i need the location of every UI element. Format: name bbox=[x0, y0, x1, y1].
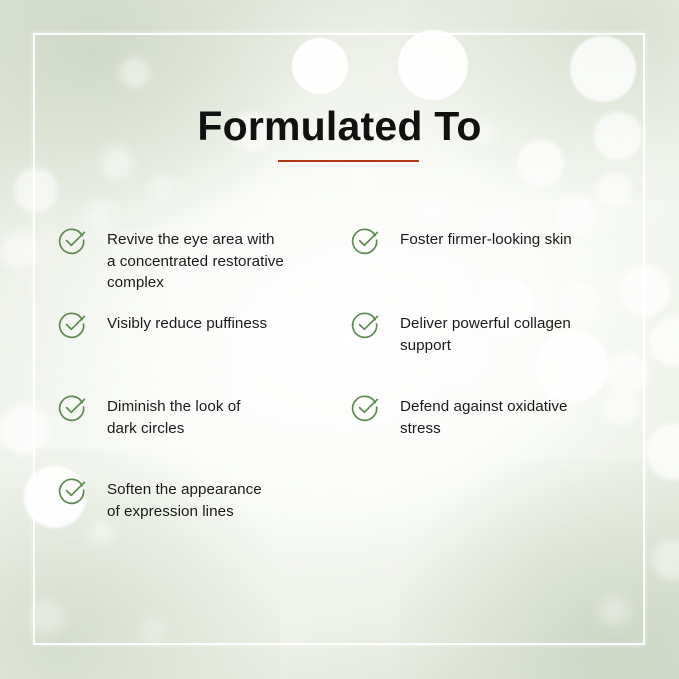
benefit-item: Deliver powerful collagen support bbox=[351, 313, 571, 356]
check-circle-icon bbox=[58, 393, 88, 423]
check-circle-icon bbox=[351, 393, 381, 423]
benefit-item-label: Soften the appearance of expression line… bbox=[107, 479, 262, 522]
check-circle-icon bbox=[58, 310, 88, 340]
benefit-columns: Revive the eye area with a concentrated … bbox=[0, 0, 679, 679]
benefit-item: Defend against oxidative stress bbox=[351, 396, 568, 439]
benefit-item-label: Visibly reduce puffiness bbox=[107, 313, 267, 335]
content-area: Formulated To Revive the eye area with a… bbox=[0, 0, 679, 679]
benefit-item: Visibly reduce puffiness bbox=[58, 313, 267, 340]
benefit-item: Diminish the look of dark circles bbox=[58, 396, 241, 439]
promo-graphic: Formulated To Revive the eye area with a… bbox=[0, 0, 679, 679]
benefit-item-label: Foster firmer-looking skin bbox=[400, 229, 572, 251]
benefit-item-label: Diminish the look of dark circles bbox=[107, 396, 241, 439]
benefit-item-label: Defend against oxidative stress bbox=[400, 396, 568, 439]
check-circle-icon bbox=[351, 310, 381, 340]
check-circle-icon bbox=[58, 476, 88, 506]
benefit-item: Revive the eye area with a concentrated … bbox=[58, 229, 284, 294]
check-circle-icon bbox=[58, 226, 88, 256]
check-circle-icon bbox=[351, 226, 381, 256]
benefit-item-label: Deliver powerful collagen support bbox=[400, 313, 571, 356]
benefit-item: Foster firmer-looking skin bbox=[351, 229, 572, 256]
benefit-item-label: Revive the eye area with a concentrated … bbox=[107, 229, 284, 294]
benefit-item: Soften the appearance of expression line… bbox=[58, 479, 262, 522]
